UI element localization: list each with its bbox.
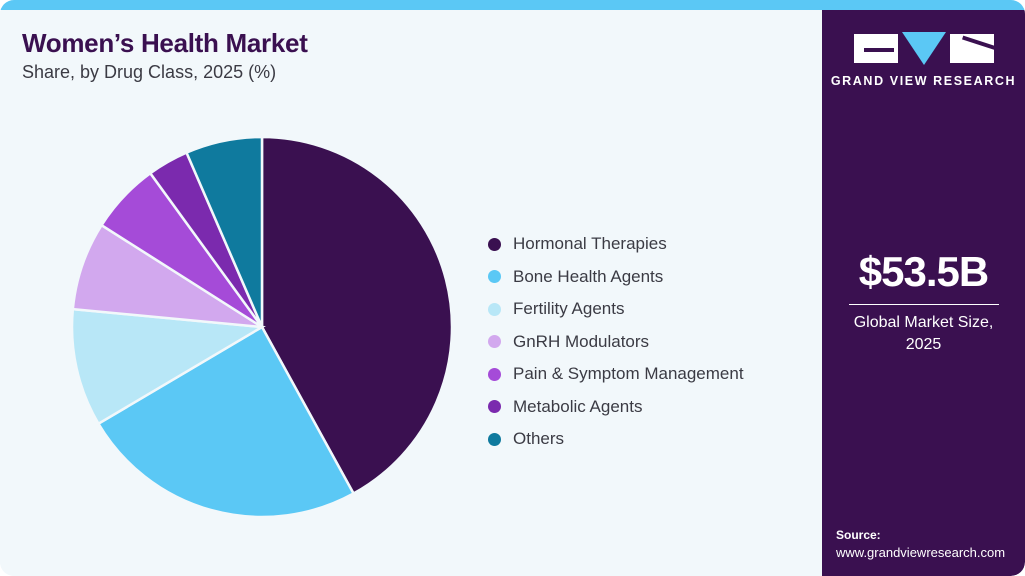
- legend-swatch-icon: [488, 433, 501, 446]
- legend-item: Fertility Agents: [488, 293, 744, 326]
- pie-slice-group: [72, 137, 452, 517]
- pie-chart-svg: [60, 130, 470, 530]
- page-title: Women’s Health Market: [22, 28, 308, 59]
- legend-item: Others: [488, 423, 744, 456]
- legend-label: Fertility Agents: [513, 299, 625, 319]
- legend-swatch-icon: [488, 400, 501, 413]
- chart-pane: Women’s Health Market Share, by Drug Cla…: [0, 10, 822, 576]
- legend-swatch-icon: [488, 335, 501, 348]
- legend-label: Metabolic Agents: [513, 397, 642, 417]
- market-size-caption: Global Market Size, 2025: [822, 312, 1025, 355]
- legend-label: GnRH Modulators: [513, 332, 649, 352]
- source-url[interactable]: www.grandviewresearch.com: [836, 545, 1025, 560]
- source-label: Source:: [836, 528, 1025, 542]
- legend-item: GnRH Modulators: [488, 326, 744, 359]
- legend-item: Pain & Symptom Management: [488, 358, 744, 391]
- brand-panel: GRAND VIEW RESEARCH $53.5B Global Market…: [822, 10, 1025, 576]
- legend-label: Bone Health Agents: [513, 267, 663, 287]
- legend-swatch-icon: [488, 270, 501, 283]
- logo-marks: [854, 32, 994, 65]
- logo-v-icon: [902, 32, 946, 65]
- legend-label: Hormonal Therapies: [513, 234, 667, 254]
- legend-swatch-icon: [488, 303, 501, 316]
- brand-logo: GRAND VIEW RESEARCH: [822, 32, 1025, 88]
- legend-item: Metabolic Agents: [488, 391, 744, 424]
- legend-item: Bone Health Agents: [488, 261, 744, 294]
- legend-item: Hormonal Therapies: [488, 228, 744, 261]
- source-block: Source: www.grandviewresearch.com: [836, 528, 1025, 560]
- legend-swatch-icon: [488, 238, 501, 251]
- legend-swatch-icon: [488, 368, 501, 381]
- pie-chart: [60, 130, 470, 530]
- page-subtitle: Share, by Drug Class, 2025 (%): [22, 62, 276, 83]
- top-accent-bar: [0, 0, 1025, 10]
- market-size-value: $53.5B: [822, 248, 1025, 296]
- market-size-block: $53.5B Global Market Size, 2025: [822, 248, 1025, 355]
- divider: [849, 304, 999, 305]
- brand-name: GRAND VIEW RESEARCH: [831, 74, 1016, 88]
- legend-label: Others: [513, 429, 564, 449]
- logo-r-icon: [950, 34, 994, 63]
- chart-legend: Hormonal TherapiesBone Health AgentsFert…: [488, 228, 744, 456]
- infographic-card: Women’s Health Market Share, by Drug Cla…: [0, 0, 1025, 576]
- logo-g-icon: [854, 34, 898, 63]
- legend-label: Pain & Symptom Management: [513, 364, 744, 384]
